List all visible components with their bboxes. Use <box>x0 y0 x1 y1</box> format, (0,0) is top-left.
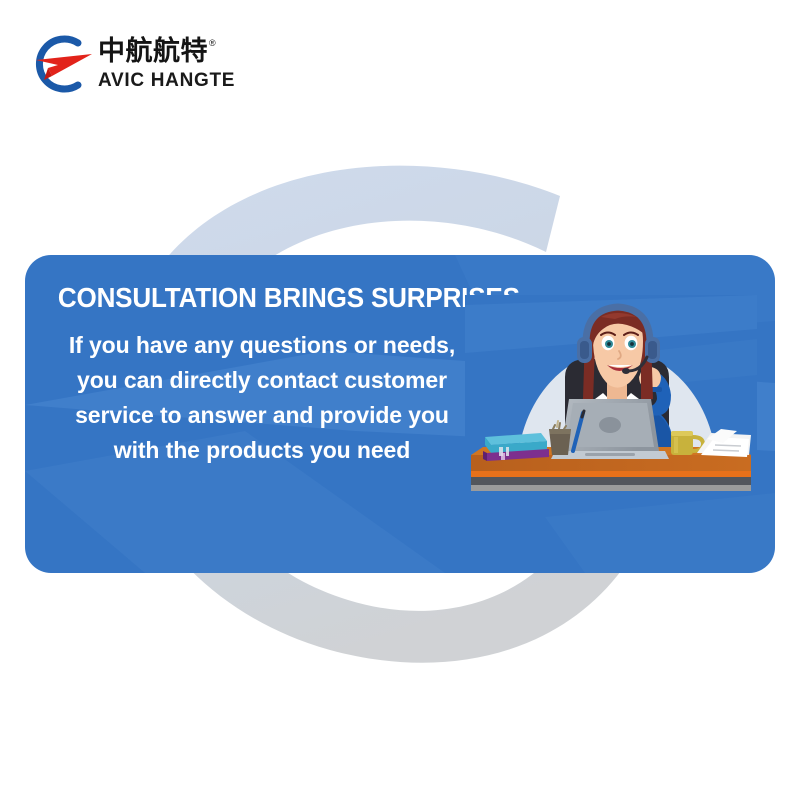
brand-name-cn-row: 中航航特 ® <box>98 38 235 66</box>
card-copy-block: CONSULTATION BRINGS SURPRISES If you hav… <box>25 255 495 573</box>
brand-logo-text: 中航航特 ® AVIC HANGTE <box>98 38 235 89</box>
registered-trademark-icon: ® <box>209 39 216 48</box>
card-body-text: If you have any questions or needs, you … <box>52 328 472 468</box>
brand-name-cn: 中航航特 <box>98 38 208 66</box>
card-title: CONSULTATION BRINGS SURPRISES <box>43 283 450 314</box>
banner-page: 中航航特 ® AVIC HANGTE CONSULTATION BRINGS S… <box>0 0 800 800</box>
avic-hangte-logo-mark-icon <box>22 32 96 96</box>
brand-logo[interactable]: 中航航特 ® AVIC HANGTE <box>22 28 232 100</box>
brand-name-en: AVIC HANGTE <box>98 71 235 90</box>
customer-service-agent-at-desk-illustration <box>465 295 757 491</box>
